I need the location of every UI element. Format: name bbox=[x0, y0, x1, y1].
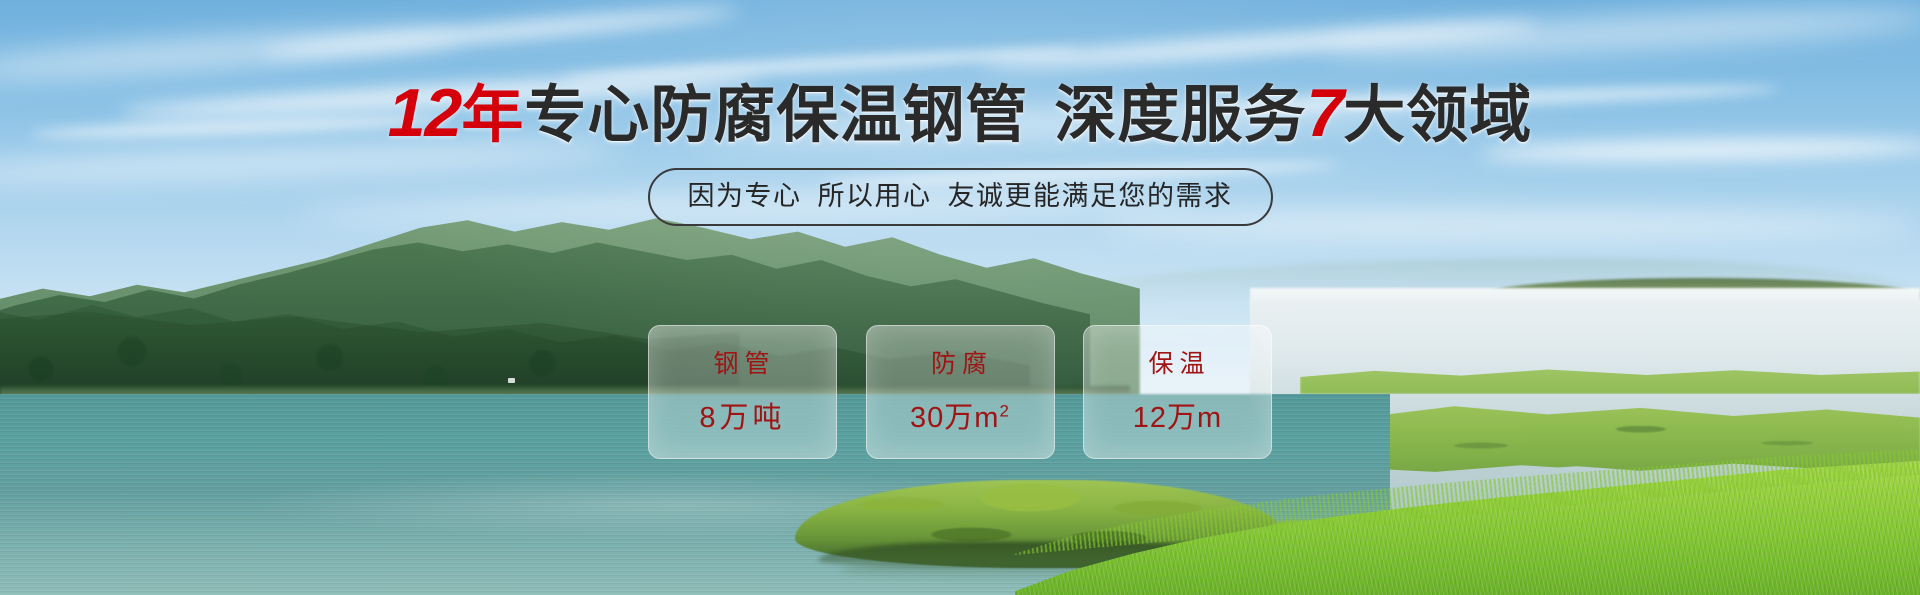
promo-banner: 12年专心防腐保温钢管深度服务7大领域 因为专心所以用心友诚更能满足您的需求 钢… bbox=[0, 0, 1920, 595]
stat-card-anticorrosion[interactable]: 防腐 30万m2 bbox=[866, 325, 1055, 459]
stat-card-title: 保温 bbox=[1148, 350, 1210, 378]
stat-card-value: 12万m bbox=[1133, 402, 1222, 434]
stat-card-group: 钢管 8万吨 防腐 30万m2 保温 12万m bbox=[648, 325, 1272, 457]
headline-fields-number: 7 bbox=[1306, 75, 1343, 151]
stat-card-title: 钢管 bbox=[713, 350, 775, 378]
stat-card-value-main: 12万m bbox=[1133, 402, 1222, 434]
stat-card-value: 30万m2 bbox=[910, 402, 1010, 434]
headline-years-unit: 年 bbox=[461, 81, 524, 150]
stat-card-value-main: 30万m bbox=[910, 402, 999, 434]
subtitle-part-3: 友诚更能满足您的需求 bbox=[948, 181, 1233, 211]
headline-service-text: 深度服务 bbox=[1054, 81, 1306, 150]
headline-fields-text: 大领域 bbox=[1343, 81, 1532, 150]
subtitle-part-2: 所以用心 bbox=[818, 181, 932, 211]
headline-main-text: 专心防腐保温钢管 bbox=[524, 81, 1028, 150]
stat-card-value-superscript: 2 bbox=[999, 401, 1009, 420]
headline-years-number: 12 bbox=[388, 75, 462, 151]
subtitle-pill: 因为专心所以用心友诚更能满足您的需求 bbox=[648, 168, 1273, 226]
stat-card-value-main: 8万吨 bbox=[699, 402, 785, 434]
banner-content: 12年专心防腐保温钢管深度服务7大领域 因为专心所以用心友诚更能满足您的需求 钢… bbox=[0, 0, 1920, 595]
subtitle-part-1: 因为专心 bbox=[688, 181, 802, 211]
stat-card-title: 防腐 bbox=[931, 350, 993, 378]
subtitle-container: 因为专心所以用心友诚更能满足您的需求 bbox=[0, 168, 1920, 226]
stat-card-value: 8万吨 bbox=[699, 402, 785, 434]
stat-card-insulation[interactable]: 保温 12万m bbox=[1083, 325, 1272, 459]
stat-card-steel-pipe[interactable]: 钢管 8万吨 bbox=[648, 325, 837, 459]
headline: 12年专心防腐保温钢管深度服务7大领域 bbox=[0, 82, 1920, 147]
